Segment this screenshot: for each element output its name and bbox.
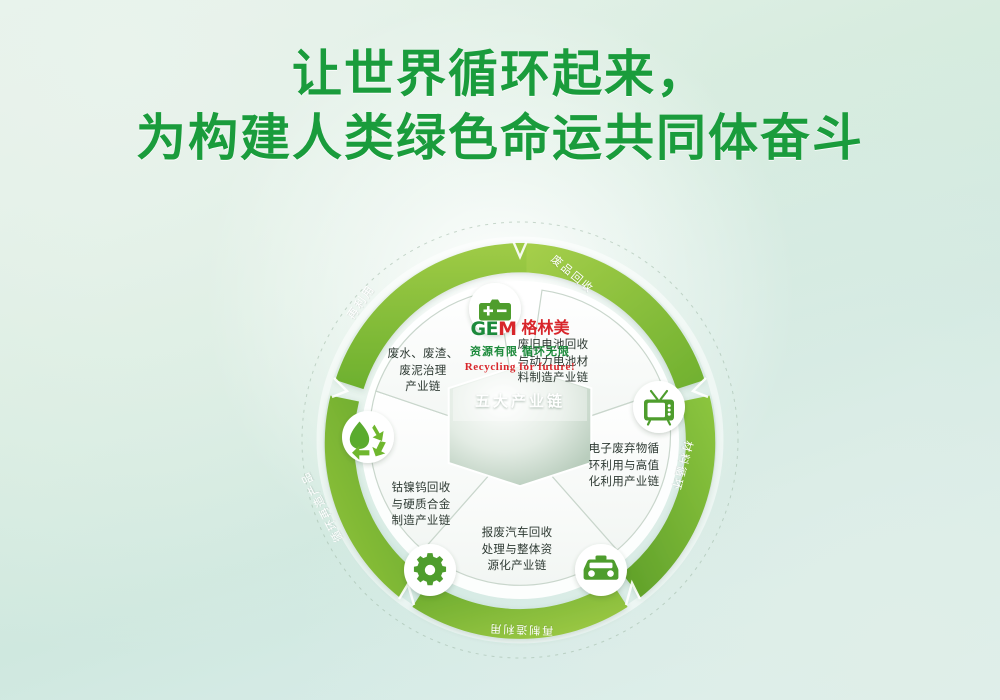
page-title: 让世界循环起来， 为构建人类绿色命运共同体奋斗 (0, 42, 1000, 170)
circular-industry-chain-diagram: 废旧电池回收 与动力电池材 料制造产业链 电子废弃物循 环利用与高值 化利用产业… (295, 215, 745, 665)
headline-line-1: 让世界循环起来， (0, 42, 1000, 106)
gear-icon (414, 553, 446, 585)
infographic-poster: 让世界循环起来， 为构建人类绿色命运共同体奋斗 (0, 0, 1000, 700)
headline-line-2: 为构建人类绿色命运共同体奋斗 (0, 106, 1000, 170)
diagram-svg (295, 215, 745, 665)
